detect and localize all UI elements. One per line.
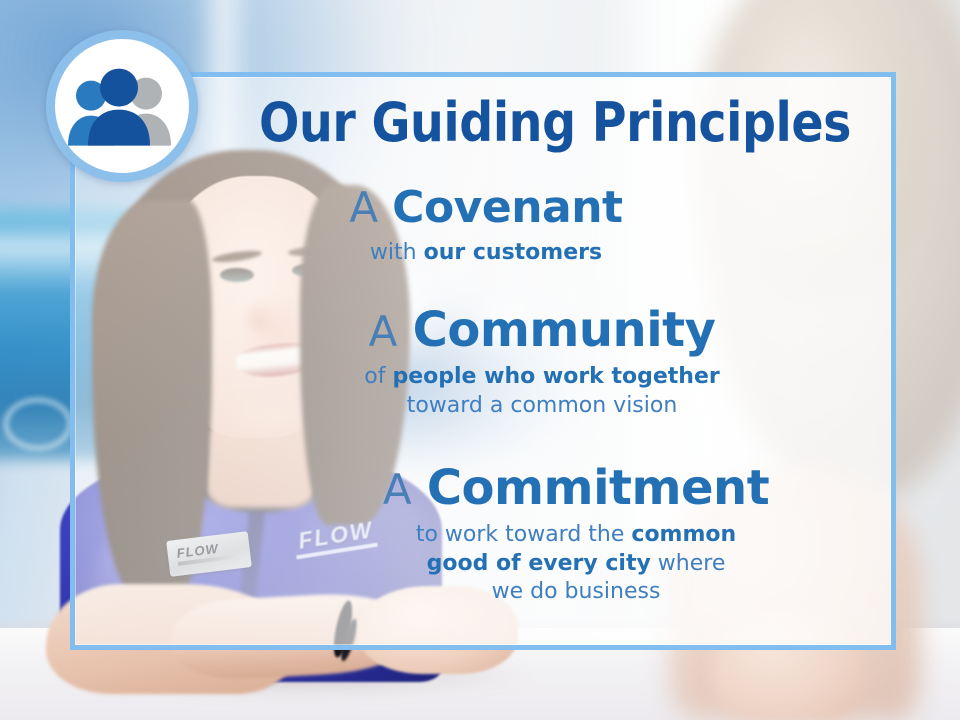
principle-subtext: to work toward the common good of every … — [256, 521, 896, 607]
subtext-segment: of — [364, 364, 392, 389]
subtext-segment: where — [651, 551, 726, 576]
subtext-line: of people who work together — [222, 363, 862, 392]
content-area: Our Guiding Principles A Covenant with o… — [70, 72, 896, 650]
principle-article: A — [383, 465, 412, 514]
principle-article: A — [369, 307, 398, 356]
subtext-line: we do business — [256, 578, 896, 607]
principle-commitment: A Commitment to work toward the common g… — [256, 464, 896, 607]
people-group-icon — [63, 68, 181, 148]
banner-stage: FLOW FLOW Our Guiding Principles A Coven… — [0, 0, 960, 720]
principle-covenant: A Covenant with our customers — [186, 186, 786, 267]
principle-heading: A Community — [222, 306, 862, 355]
vehicle-emblem — [4, 398, 72, 450]
principle-article: A — [349, 183, 378, 232]
badge-inner — [55, 39, 189, 173]
subtext-line: with our customers — [186, 239, 786, 268]
subtext-line: to work toward the common — [256, 521, 896, 550]
principle-heading: A Commitment — [256, 464, 896, 513]
subtext-segment-bold: our customers — [424, 240, 603, 265]
subtext-segment-bold: people who work together — [392, 364, 719, 389]
principle-keyword: Community — [413, 302, 716, 358]
principle-community: A Community of people who work together … — [222, 306, 862, 420]
subtext-segment-bold: common — [631, 522, 736, 547]
subtext-segment: we do business — [492, 579, 661, 604]
principle-keyword: Covenant — [392, 182, 622, 233]
principle-heading: A Covenant — [186, 186, 786, 231]
subtext-line: good of every city where — [256, 550, 896, 579]
subtext-segment: to work toward the — [416, 522, 632, 547]
subtext-segment: with — [370, 240, 424, 265]
principle-subtext: with our customers — [186, 239, 786, 268]
subtext-line: toward a common vision — [222, 392, 862, 421]
principle-subtext: of people who work together toward a com… — [222, 363, 862, 420]
people-group-badge — [46, 30, 198, 182]
subtext-segment: toward a common vision — [407, 393, 678, 418]
principle-keyword: Commitment — [427, 460, 769, 516]
page-title: Our Guiding Principles — [259, 96, 831, 150]
subtext-segment-bold: good of every city — [427, 551, 651, 576]
